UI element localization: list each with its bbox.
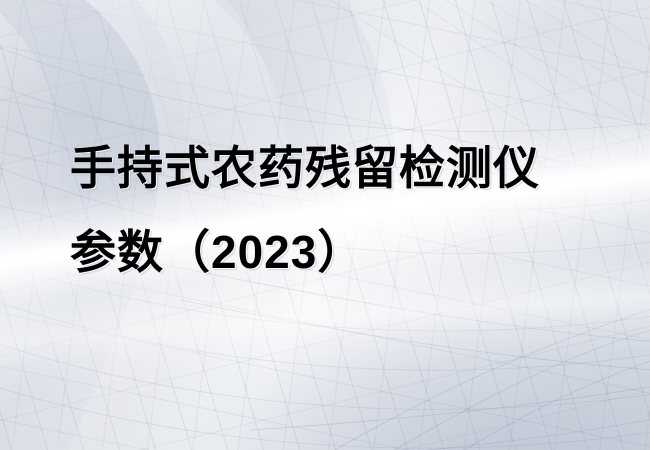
title-block: 手持式农药残留检测仪 参数（2023） <box>70 126 610 294</box>
title-line-secondary: 参数（2023） <box>70 210 610 294</box>
title-line-primary: 手持式农药残留检测仪 <box>70 126 610 210</box>
title-banner: 手持式农药残留检测仪 参数（2023） <box>0 0 650 450</box>
